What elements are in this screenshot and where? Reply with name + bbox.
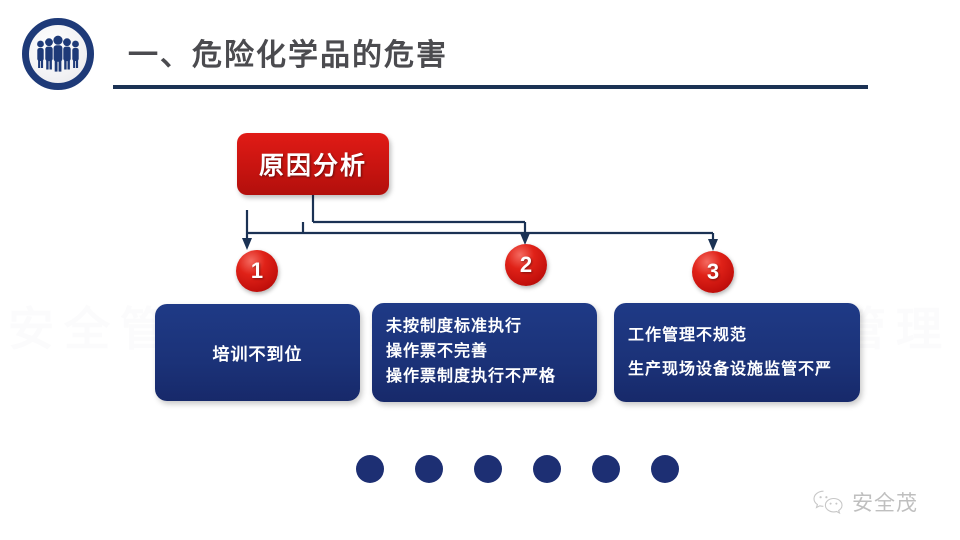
corner-watermark: 安全茂 <box>812 487 918 517</box>
page-title: 一、危险化学品的危害 <box>128 30 448 74</box>
branch-card-2-line-1: 未按制度标准执行 <box>386 315 597 340</box>
branch-card-3-line-2: 生产现场设备设施监管不严 <box>628 353 860 387</box>
branch-card-3[interactable]: 工作管理不规范 生产现场设备设施监管不严 <box>614 303 860 402</box>
branch-card-2-line-3: 操作票制度执行不严格 <box>386 365 597 390</box>
people-group-icon <box>22 18 94 90</box>
corner-watermark-text: 安全茂 <box>852 487 918 517</box>
wechat-icon <box>812 489 844 515</box>
decorative-dot <box>592 455 620 483</box>
decorative-dot <box>356 455 384 483</box>
branch-badge-3: 3 <box>692 251 734 293</box>
arrow-head-3 <box>708 239 718 251</box>
people-group-icon-glyph <box>35 35 81 73</box>
branch-card-1[interactable]: 培训不到位 <box>155 304 360 401</box>
branch-badge-2-number: 2 <box>520 254 532 276</box>
decorative-dot-row <box>356 455 679 483</box>
branch-badge-2: 2 <box>505 244 547 286</box>
decorative-dot <box>533 455 561 483</box>
branch-card-2-line-2: 操作票不完善 <box>386 340 597 365</box>
decorative-dot <box>415 455 443 483</box>
decorative-dot <box>651 455 679 483</box>
header-divider <box>113 85 868 89</box>
branch-card-1-line-1: 培训不到位 <box>213 340 303 365</box>
decorative-dot <box>474 455 502 483</box>
branch-badge-1: 1 <box>236 250 278 292</box>
branch-card-3-line-1: 工作管理不规范 <box>628 319 860 353</box>
branch-card-2[interactable]: 未按制度标准执行 操作票不完善 操作票制度执行不严格 <box>372 303 597 402</box>
arrow-head-1 <box>242 238 252 250</box>
branch-badge-3-number: 3 <box>707 261 719 283</box>
root-node-cause-analysis[interactable]: 原因分析 <box>237 133 389 195</box>
slide-canvas: 安全管理 安全管理 安全管理 <box>0 0 960 540</box>
root-node-label: 原因分析 <box>259 146 367 182</box>
branch-badge-1-number: 1 <box>251 260 263 282</box>
